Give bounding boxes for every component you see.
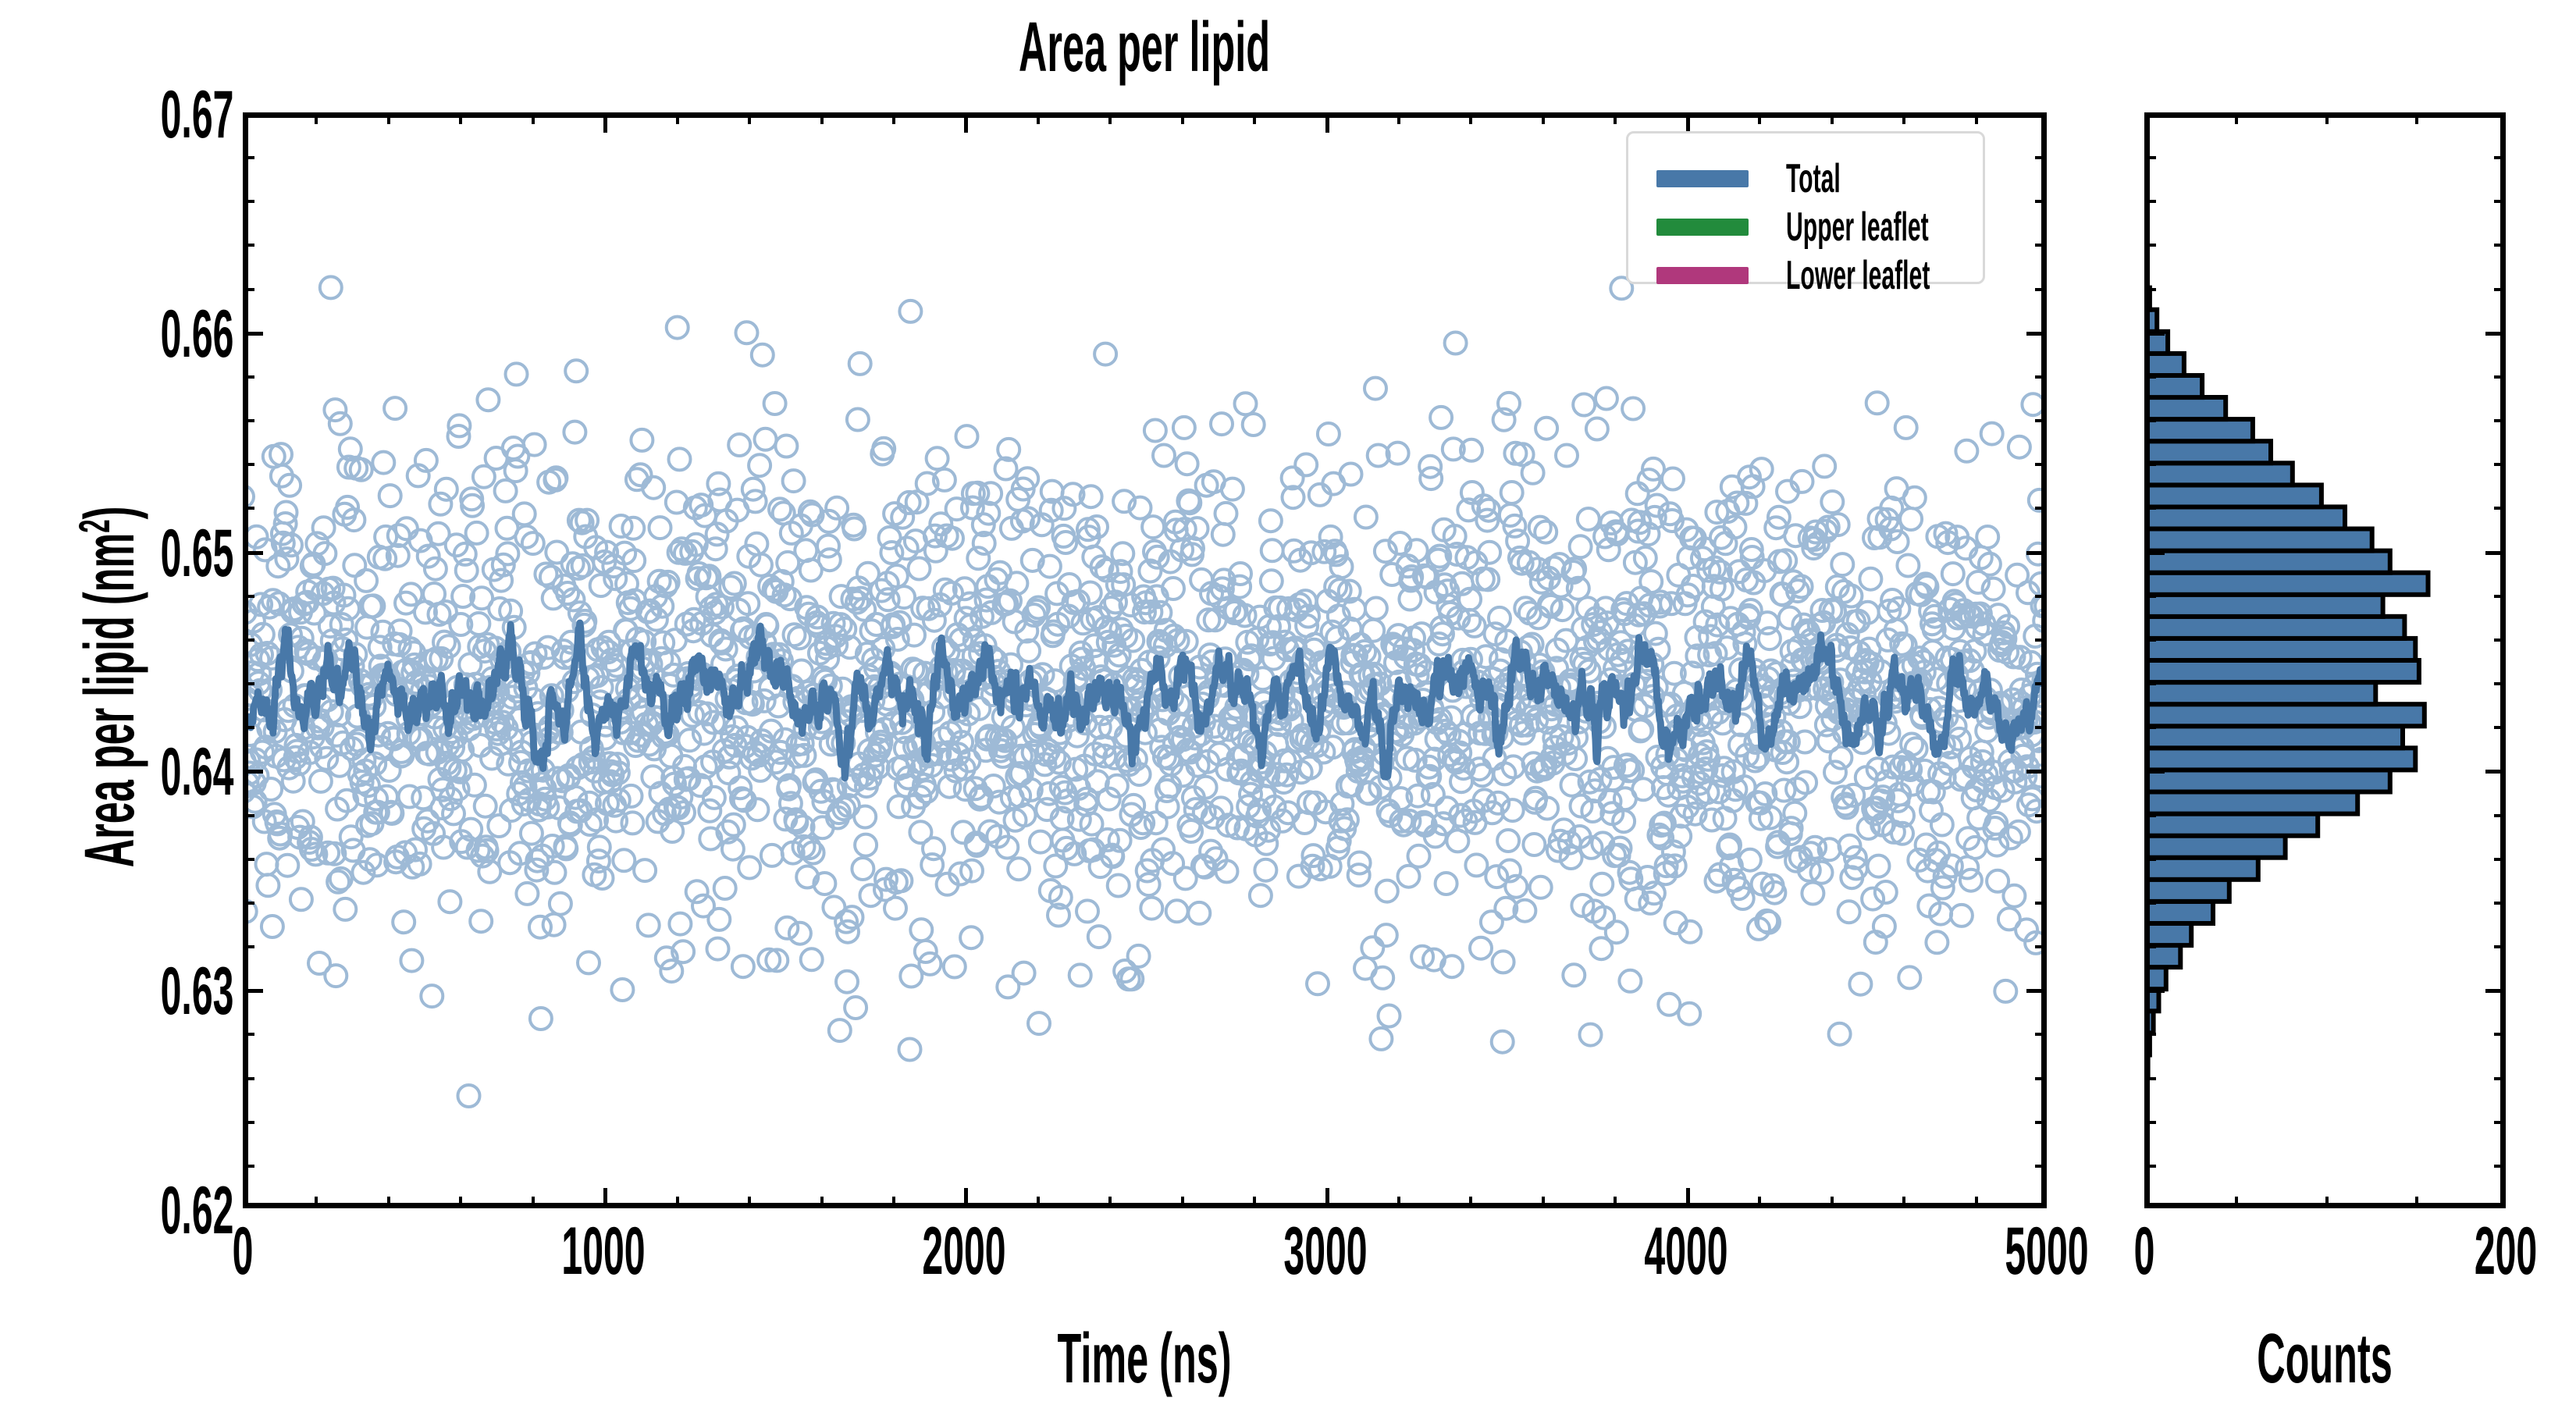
y-minor-tick (243, 814, 254, 817)
x-major-tick (1325, 1188, 1329, 1208)
x-minor-tick-top (1831, 112, 1834, 124)
hist-y-minor-tick (2144, 726, 2156, 729)
x-minor-tick-top (1758, 112, 1761, 124)
x-minor-tick-top (1397, 112, 1400, 124)
x-minor-tick (387, 1197, 390, 1208)
x-minor-tick (1542, 1197, 1545, 1208)
y-minor-tick (243, 507, 254, 510)
legend-swatch-total (1656, 170, 1749, 187)
x-minor-tick-top (1181, 112, 1184, 124)
y-minor-tick (243, 156, 254, 159)
y-minor-tick (243, 288, 254, 291)
y-major-tick (243, 770, 263, 774)
hist-y-minor-tick-right (2494, 858, 2506, 861)
hist-y-minor-tick-right (2494, 902, 2506, 905)
hist-y-minor-tick (2144, 682, 2156, 685)
hist-y-minor-tick (2144, 156, 2156, 159)
hist-y-minor-tick-right (2494, 244, 2506, 247)
y-minor-tick (243, 1033, 254, 1036)
y-tick-label: 0.67 (160, 76, 233, 154)
hist-y-minor-tick-right (2494, 595, 2506, 598)
hist-y-minor-tick-right (2494, 1077, 2506, 1080)
y-minor-tick-right (2035, 858, 2047, 861)
histogram-bar (2144, 748, 2415, 770)
hist-y-minor-tick-right (2494, 1165, 2506, 1168)
histogram-bar (2144, 507, 2345, 528)
x-minor-tick-top (315, 112, 318, 124)
y-minor-tick-right (2035, 1033, 2047, 1036)
y-tick-label: 0.65 (160, 515, 233, 592)
histogram-bar (2144, 704, 2425, 726)
x-minor-tick-top (1037, 112, 1040, 124)
legend-item-upper-leaflet[interactable]: Upper leaflet (1656, 204, 2032, 251)
hist-x-minor-tick-top (2235, 112, 2238, 124)
y-minor-tick (243, 200, 254, 203)
x-minor-tick-top (1108, 112, 1112, 124)
histogram-bar (2144, 529, 2372, 551)
hist-y-minor-tick-right (2494, 375, 2506, 379)
histogram-bars (2144, 266, 2428, 1121)
x-minor-tick-top (1902, 112, 1905, 124)
x-minor-tick-top (1975, 112, 1978, 124)
y-tick-label: 0.66 (160, 296, 233, 373)
hist-y-minor-tick (2144, 1121, 2156, 1124)
hist-x-minor-tick-top (2415, 112, 2418, 124)
y-minor-tick-right (2035, 1165, 2047, 1168)
hist-y-minor-tick-right (2494, 1121, 2506, 1124)
axis-spine-left (243, 112, 248, 1208)
hist-y-minor-tick (2144, 814, 2156, 817)
hist-x-minor-tick (2415, 1197, 2418, 1208)
histogram-bar (2144, 814, 2318, 836)
y-minor-tick (243, 638, 254, 642)
y-minor-tick-right (2035, 507, 2047, 510)
hist-y-minor-tick (2144, 288, 2156, 291)
x-minor-tick-top (676, 112, 679, 124)
hist-y-minor-tick (2144, 507, 2156, 510)
x-minor-tick (1831, 1197, 1834, 1208)
y-minor-tick-right (2035, 1121, 2047, 1124)
x-minor-tick (1181, 1197, 1184, 1208)
hist-spine-left (2144, 112, 2150, 1208)
x-minor-tick (532, 1197, 535, 1208)
x-tick-label: 3000 (1283, 1213, 1367, 1290)
y-minor-tick-right (2035, 945, 2047, 948)
axis-spine-right (2041, 112, 2047, 1208)
legend-label-total: Total (1786, 155, 1841, 202)
y-major-tick-right (2026, 989, 2047, 993)
x-tick-label: 4000 (1644, 1213, 1727, 1290)
y-axis-title: Area per lipid (nm2) (62, 140, 156, 1233)
y-major-tick (243, 112, 263, 116)
y-minor-tick-right (2035, 288, 2047, 291)
y-minor-tick-right (2035, 902, 2047, 905)
y-major-tick-right (2026, 332, 2047, 336)
y-tick-label: 0.64 (160, 734, 233, 811)
hist-y-minor-tick-right (2494, 419, 2506, 422)
y-minor-tick (243, 858, 254, 861)
histogram-bar (2144, 792, 2357, 814)
x-minor-tick (315, 1197, 318, 1208)
histogram-bar (2144, 573, 2428, 595)
x-minor-tick (1469, 1197, 1472, 1208)
y-minor-tick (243, 463, 254, 466)
x-major-tick (1686, 1188, 1690, 1208)
hist-y-minor-tick (2144, 902, 2156, 905)
hist-y-minor-tick (2144, 244, 2156, 247)
hist-y-minor-tick (2144, 595, 2156, 598)
hist-y-minor-tick (2144, 200, 2156, 203)
y-minor-tick (243, 595, 254, 598)
hist-y-major-tick (2144, 551, 2165, 555)
histogram-bar (2144, 836, 2286, 858)
hist-y-minor-tick-right (2494, 945, 2506, 948)
main-scatter-panel: Total Upper leaflet Lower leaflet (243, 112, 2047, 1208)
y-minor-tick-right (2035, 419, 2047, 422)
y-minor-tick-right (2035, 814, 2047, 817)
y-tick-label: 0.63 (160, 953, 233, 1030)
x-major-tick-top (1325, 112, 1329, 133)
legend-label-lower-leaflet: Lower leaflet (1786, 252, 1930, 299)
hist-y-minor-tick (2144, 419, 2156, 422)
x-tick-label: 2000 (923, 1213, 1006, 1290)
y-minor-tick-right (2035, 200, 2047, 203)
histogram-bar (2144, 595, 2383, 617)
y-major-tick (243, 332, 263, 336)
figure-canvas: Area per lipid Total Upper leaflet Lower… (0, 0, 2576, 1405)
hist-y-minor-tick-right (2494, 463, 2506, 466)
hist-y-major-tick (2144, 989, 2165, 993)
x-minor-tick-top (820, 112, 824, 124)
x-minor-tick (1902, 1197, 1905, 1208)
x-major-tick-top (1686, 112, 1690, 133)
histogram-bar (2144, 375, 2202, 397)
hist-y-minor-tick-right (2494, 156, 2506, 159)
x-minor-tick-top (459, 112, 462, 124)
histogram-bar (2144, 419, 2253, 441)
y-minor-tick (243, 945, 254, 948)
hist-x-minor-tick (2325, 1197, 2329, 1208)
y-minor-tick (243, 726, 254, 729)
x-minor-tick (1975, 1197, 1978, 1208)
x-minor-tick-top (387, 112, 390, 124)
hist-y-minor-tick (2144, 638, 2156, 642)
x-minor-tick (459, 1197, 462, 1208)
histogram-bar (2144, 354, 2184, 375)
histogram-bar (2144, 463, 2293, 485)
legend-label-upper-leaflet: Upper leaflet (1786, 204, 1929, 251)
x-minor-tick (892, 1197, 895, 1208)
hist-y-major-tick-right (2485, 112, 2506, 116)
hist-x-axis-title: Counts (2257, 1319, 2393, 1400)
y-minor-tick-right (2035, 375, 2047, 379)
hist-x-tick-label: 200 (2475, 1213, 2537, 1290)
hist-y-minor-tick-right (2494, 638, 2506, 642)
hist-y-major-tick-right (2485, 989, 2506, 993)
histogram-bar (2144, 485, 2322, 507)
hist-y-minor-tick (2144, 1077, 2156, 1080)
histogram-panel (2144, 112, 2506, 1208)
hist-y-major-tick-right (2485, 551, 2506, 555)
y-major-tick-right (2026, 112, 2047, 116)
histogram-bar (2144, 770, 2390, 791)
x-major-tick-top (964, 112, 968, 133)
legend-swatch-upper-leaflet (1656, 219, 1749, 236)
x-minor-tick (748, 1197, 751, 1208)
hist-y-major-tick (2144, 112, 2165, 116)
x-minor-tick (1614, 1197, 1617, 1208)
legend-item-lower-leaflet[interactable]: Lower leaflet (1656, 252, 2034, 299)
x-tick-label: 5000 (2005, 1213, 2088, 1290)
histogram-bar (2144, 397, 2226, 419)
x-tick-label: 1000 (562, 1213, 646, 1290)
histogram-canvas (2144, 112, 2506, 1208)
x-minor-tick-top (748, 112, 751, 124)
histogram-bar (2144, 617, 2404, 638)
hist-y-major-tick (2144, 1204, 2165, 1208)
y-minor-tick (243, 682, 254, 685)
y-axis-title-superscript: 2 (69, 519, 119, 532)
axis-spine-top (243, 112, 2047, 118)
histogram-bar (2144, 660, 2419, 682)
y-major-tick (243, 1204, 263, 1208)
y-minor-tick-right (2035, 463, 2047, 466)
x-minor-tick (1108, 1197, 1112, 1208)
x-minor-tick (1397, 1197, 1400, 1208)
y-axis-title-tail: ) (71, 507, 149, 520)
y-minor-tick (243, 1165, 254, 1168)
x-minor-tick (676, 1197, 679, 1208)
axis-spine-bottom (243, 1203, 2047, 1208)
hist-x-minor-tick (2235, 1197, 2238, 1208)
x-minor-tick-top (892, 112, 895, 124)
histogram-bar (2144, 551, 2390, 573)
y-major-tick-right (2026, 551, 2047, 555)
hist-x-minor-tick-top (2325, 112, 2329, 124)
hist-y-major-tick-right (2485, 332, 2506, 336)
x-minor-tick (1253, 1197, 1256, 1208)
y-minor-tick (243, 419, 254, 422)
y-minor-tick (243, 902, 254, 905)
y-minor-tick-right (2035, 682, 2047, 685)
legend-swatch-lower-leaflet (1656, 267, 1749, 284)
y-minor-tick-right (2035, 726, 2047, 729)
histogram-bar (2144, 726, 2403, 748)
histogram-bar (2144, 902, 2213, 923)
y-axis-title-base: Area per lipid (nm (71, 533, 149, 867)
y-minor-tick-right (2035, 156, 2047, 159)
y-major-tick-right (2026, 770, 2047, 774)
hist-spine-right (2500, 112, 2506, 1208)
y-minor-tick-right (2035, 1077, 2047, 1080)
hist-y-minor-tick-right (2494, 682, 2506, 685)
x-major-tick (603, 1188, 607, 1208)
x-major-tick (964, 1188, 968, 1208)
x-minor-tick-top (1614, 112, 1617, 124)
x-tick-label: 0 (233, 1213, 254, 1290)
hist-y-minor-tick (2144, 1033, 2156, 1036)
hist-y-major-tick-right (2485, 1204, 2506, 1208)
y-major-tick (243, 989, 263, 993)
hist-y-minor-tick-right (2494, 814, 2506, 817)
hist-y-major-tick-right (2485, 770, 2506, 774)
x-major-tick-top (603, 112, 607, 133)
y-minor-tick-right (2035, 638, 2047, 642)
y-minor-tick (243, 1077, 254, 1080)
hist-x-tick-label: 0 (2134, 1213, 2155, 1290)
y-minor-tick (243, 244, 254, 247)
y-tick-label: 0.62 (160, 1172, 233, 1250)
y-minor-tick (243, 375, 254, 379)
x-minor-tick-top (1542, 112, 1545, 124)
hist-y-minor-tick-right (2494, 507, 2506, 510)
hist-y-minor-tick-right (2494, 726, 2506, 729)
legend-item-total[interactable]: Total (1656, 155, 1880, 202)
x-minor-tick (1037, 1197, 1040, 1208)
y-major-tick-right (2026, 1204, 2047, 1208)
page-title: Area per lipid (1019, 8, 1270, 88)
hist-y-minor-tick-right (2494, 288, 2506, 291)
y-minor-tick-right (2035, 595, 2047, 598)
hist-y-minor-tick-right (2494, 1033, 2506, 1036)
y-minor-tick (243, 1121, 254, 1124)
hist-y-minor-tick (2144, 858, 2156, 861)
x-minor-tick-top (1469, 112, 1472, 124)
x-minor-tick (1758, 1197, 1761, 1208)
hist-y-minor-tick (2144, 1165, 2156, 1168)
hist-y-minor-tick (2144, 945, 2156, 948)
y-minor-tick-right (2035, 244, 2047, 247)
histogram-bar (2144, 880, 2229, 902)
hist-y-minor-tick-right (2494, 200, 2506, 203)
hist-y-minor-tick (2144, 463, 2156, 466)
histogram-bar (2144, 858, 2258, 880)
histogram-bar (2144, 682, 2375, 704)
hist-y-minor-tick (2144, 375, 2156, 379)
histogram-bar (2144, 441, 2271, 463)
y-major-tick (243, 551, 263, 555)
legend-box[interactable]: Total Upper leaflet Lower leaflet (1626, 131, 1985, 284)
x-minor-tick-top (1253, 112, 1256, 124)
x-minor-tick-top (532, 112, 535, 124)
x-axis-title: Time (ns) (1057, 1319, 1231, 1400)
hist-y-major-tick (2144, 770, 2165, 774)
x-minor-tick (820, 1197, 824, 1208)
histogram-bar (2144, 638, 2415, 660)
histogram-bar (2144, 923, 2191, 945)
hist-y-major-tick (2144, 332, 2165, 336)
